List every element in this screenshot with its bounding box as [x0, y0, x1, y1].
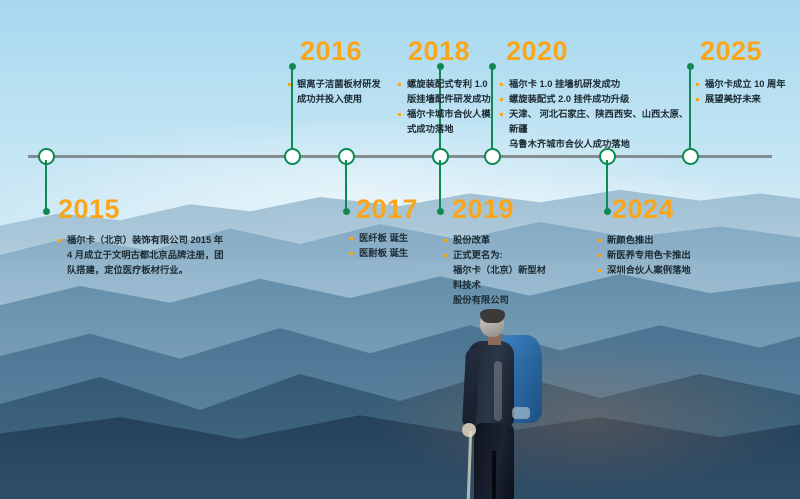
year-label-2017: 2017	[356, 196, 418, 223]
timeline-node-2020[interactable]	[484, 148, 501, 165]
timeline-stem-dot-2024	[604, 208, 611, 215]
bullet-2016-2: 成功并投入使用	[288, 92, 388, 107]
year-label-2025: 2025	[700, 38, 762, 65]
entry-body-2018: 螺旋装配式专利 1.0版挂墙配件研发成功福尔卡城市合伙人模式成功落地	[398, 77, 496, 137]
hiker-leg-gap	[492, 451, 496, 499]
timeline-stem-dot-2015	[43, 208, 50, 215]
bullet-2019-2: 正式更名为:	[444, 248, 554, 263]
bullet-2025-1: 福尔卡成立 10 周年	[696, 77, 796, 92]
bullet-2020-2: 螺旋装配式 2.0 挂件成功升级	[500, 92, 696, 107]
bullet-2015-3: 队搭建，定位医疗板材行业。	[58, 263, 233, 278]
bullet-2016-1: 银离子洁菌板材研发	[288, 77, 388, 92]
bullet-2019-4: 股份有限公司	[444, 293, 554, 308]
bullet-2018-1: 螺旋装配式专利 1.0	[398, 77, 496, 92]
bullet-2015-1: 福尔卡（北京）装饰有限公司 2015 年	[58, 233, 233, 248]
entry-body-2016: 银离子洁菌板材研发成功并投入使用	[288, 77, 388, 107]
timeline-stem-2019	[439, 160, 442, 212]
bullet-2024-2: 新医养专用色卡推出	[598, 248, 718, 263]
entry-body-2024: 新颜色推出新医养专用色卡推出深圳合伙人案例落地	[598, 233, 718, 278]
timeline-stem-2017	[345, 160, 348, 212]
timeline-stem-dot-2019	[437, 208, 444, 215]
bullet-2024-1: 新颜色推出	[598, 233, 718, 248]
entry-body-2019: 股份改革正式更名为:福尔卡（北京）新型材料技术股份有限公司	[444, 233, 554, 308]
bullet-2018-2: 版挂墙配件研发成功	[398, 92, 496, 107]
entry-body-2020: 福尔卡 1.0 挂墙机研发成功螺旋装配式 2.0 挂件成功升级天津、 河北石家庄…	[500, 77, 696, 152]
bullet-2025-2: 展望美好未来	[696, 92, 796, 107]
hiker-headwear	[480, 309, 505, 323]
backpack-strap	[494, 361, 502, 421]
bullet-2020-1: 福尔卡 1.0 挂墙机研发成功	[500, 77, 696, 92]
warm-light-glow	[330, 330, 800, 499]
year-label-2016: 2016	[300, 38, 362, 65]
bullet-2024-3: 深圳合伙人案例落地	[598, 263, 718, 278]
timeline-stem-dot-2016	[289, 63, 296, 70]
year-label-2019: 2019	[452, 196, 514, 223]
bullet-2018-4: 式成功落地	[398, 122, 496, 137]
bullet-2019-3: 福尔卡（北京）新型材料技术	[444, 263, 554, 293]
bullet-2020-3: 天津、 河北石家庄、陕西西安、山西太原、新疆	[500, 107, 696, 137]
timeline-stem-dot-2020	[489, 63, 496, 70]
bullet-2018-3: 福尔卡城市合伙人模	[398, 107, 496, 122]
year-label-2018: 2018	[408, 38, 470, 65]
bullet-2017-1: 医纤板 诞生	[350, 231, 445, 246]
year-label-2015: 2015	[58, 196, 120, 223]
entry-body-2017: 医纤板 诞生医耐板 诞生	[350, 231, 445, 261]
entry-body-2025: 福尔卡成立 10 周年展望美好未来	[696, 77, 796, 107]
trekking-pole	[467, 431, 472, 499]
entry-body-2015: 福尔卡（北京）装饰有限公司 2015 年4 月成立于文明古都北京品牌注册，团队搭…	[58, 233, 233, 278]
bullet-2019-1: 股份改革	[444, 233, 554, 248]
backpack-patch	[512, 407, 530, 419]
timeline-axis	[28, 155, 772, 158]
timeline-stem-dot-2025	[687, 63, 694, 70]
timeline-infographic: 2015福尔卡（北京）装饰有限公司 2015 年4 月成立于文明古都北京品牌注册…	[0, 0, 800, 499]
year-label-2024: 2024	[612, 196, 674, 223]
bullet-2015-2: 4 月成立于文明古都北京品牌注册，团	[58, 248, 233, 263]
bullet-2017-2: 医耐板 诞生	[350, 246, 445, 261]
hiker-figure	[440, 305, 560, 499]
year-label-2020: 2020	[506, 38, 568, 65]
timeline-node-2016[interactable]	[284, 148, 301, 165]
timeline-stem-2024	[606, 160, 609, 212]
timeline-stem-dot-2017	[343, 208, 350, 215]
bullet-2020-4: 乌鲁木齐城市合伙人成功落地	[500, 137, 696, 152]
timeline-stem-2015	[45, 160, 48, 212]
